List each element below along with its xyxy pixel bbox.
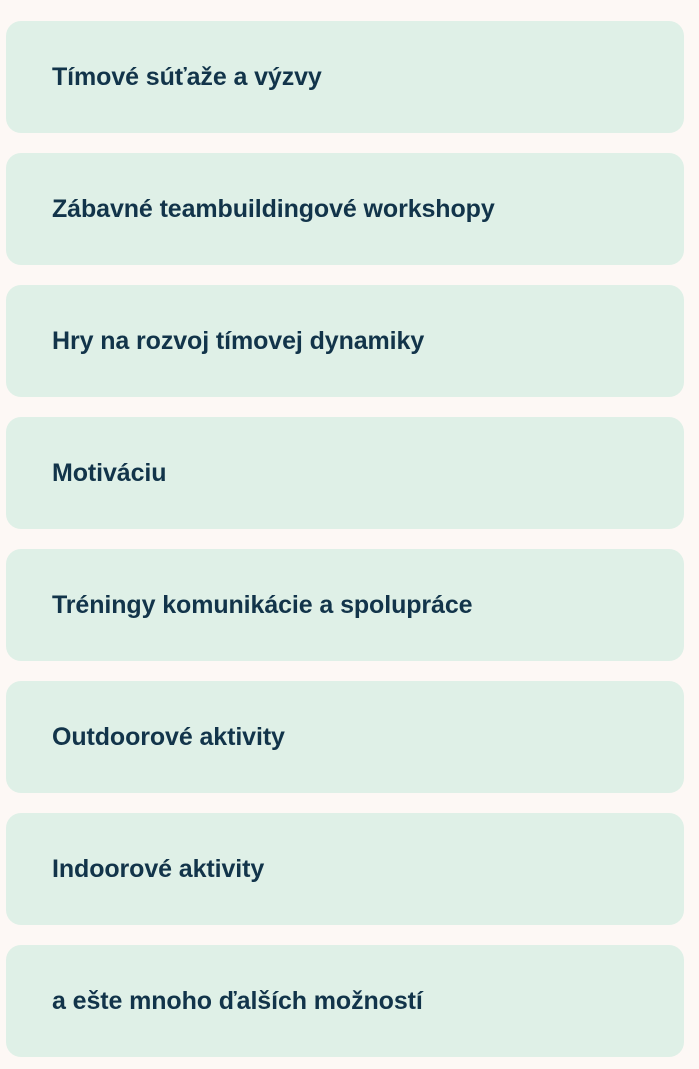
list-item-label: Hry na rozvoj tímovej dynamiky [52,327,424,356]
list-item[interactable]: Motiváciu [6,417,684,529]
list-item[interactable]: a ešte mnoho ďalších možností [6,945,684,1057]
list-item-label: Motiváciu [52,459,166,488]
list-item[interactable]: Outdoorové aktivity [6,681,684,793]
list-item-label: Indoorové aktivity [52,855,264,884]
list-item[interactable]: Hry na rozvoj tímovej dynamiky [6,285,684,397]
list-item[interactable]: Zábavné teambuildingové workshopy [6,153,684,265]
options-list: Tímové súťaže a výzvy Zábavné teambuildi… [0,0,699,1069]
list-item-label: Outdoorové aktivity [52,723,285,752]
list-item-label: Zábavné teambuildingové workshopy [52,195,495,224]
list-item-label: Tímové súťaže a výzvy [52,63,322,92]
list-item-label: Tréningy komunikácie a spolupráce [52,591,472,620]
list-item[interactable]: Tímové súťaže a výzvy [6,21,684,133]
list-item[interactable]: Tréningy komunikácie a spolupráce [6,549,684,661]
list-item-label: a ešte mnoho ďalších možností [52,987,423,1016]
list-item[interactable]: Indoorové aktivity [6,813,684,925]
